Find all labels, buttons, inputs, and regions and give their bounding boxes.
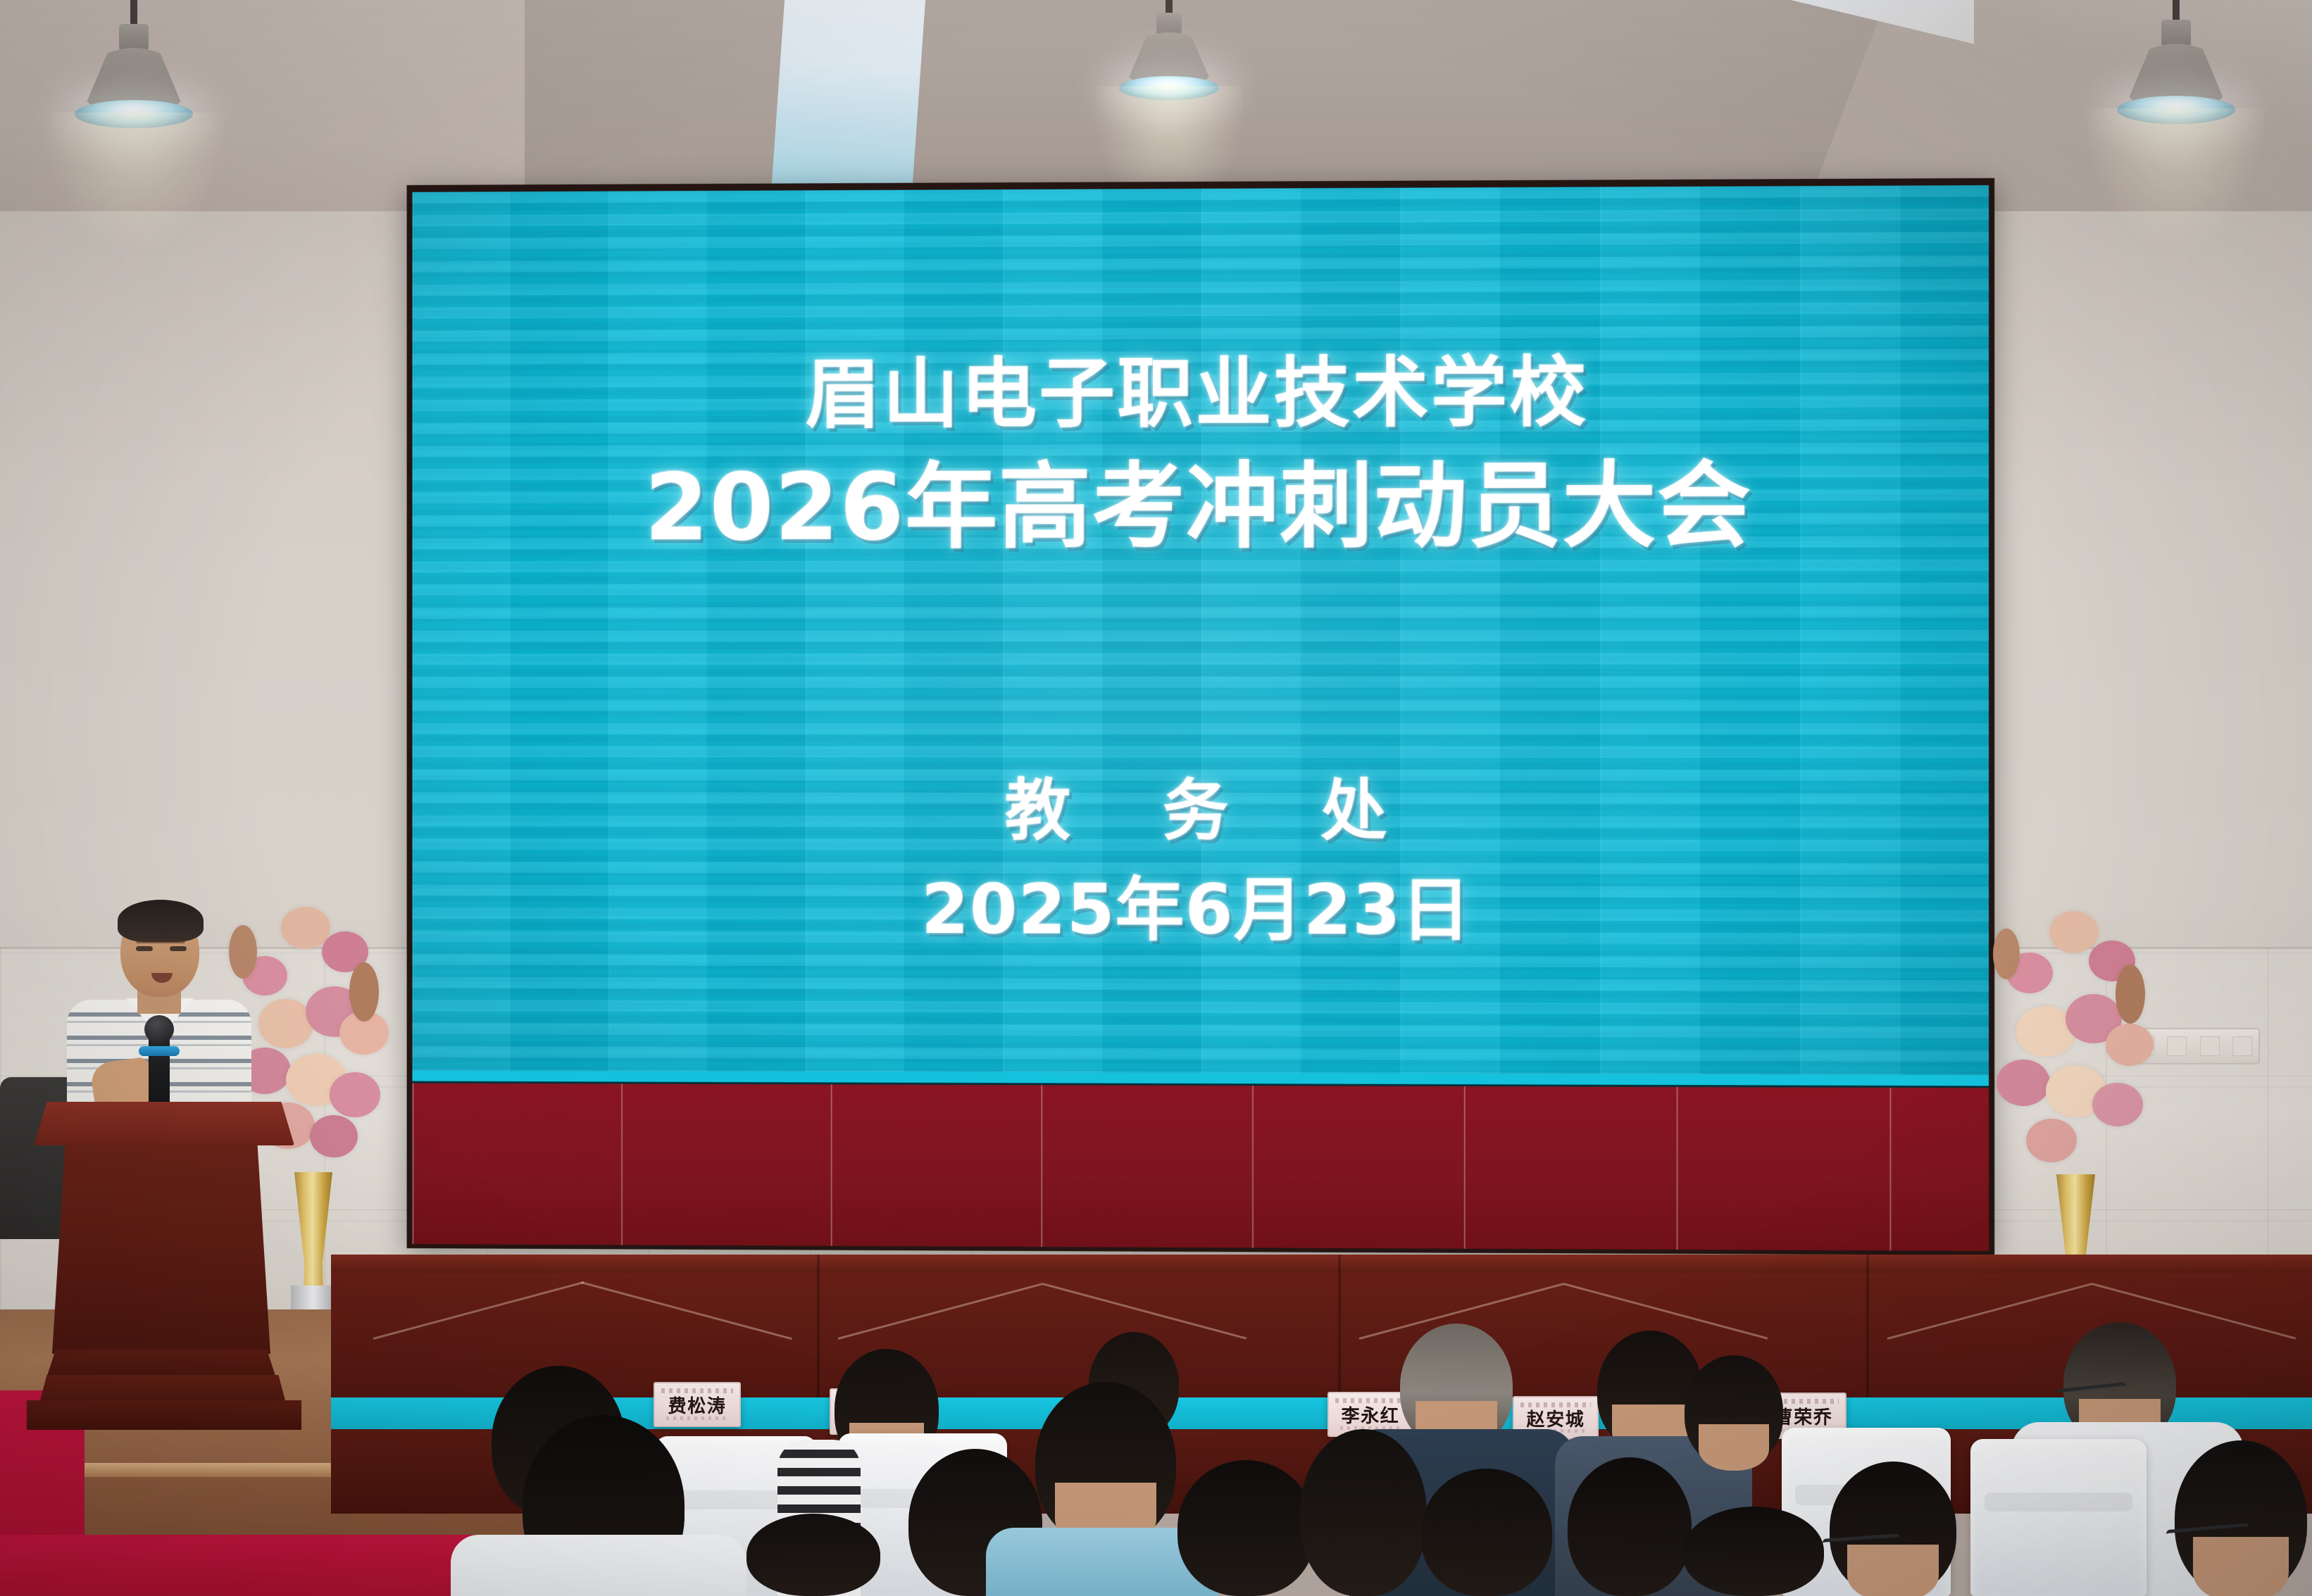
pendant-lamp-center [1106, 0, 1232, 120]
led-display-frame: 眉山电子职业技术学校 2026年高考冲刺动员大会 教 务 处 2025年6月23… [407, 178, 1995, 1255]
nameplate-footer-line [666, 1416, 728, 1420]
audience-head [1683, 1507, 1824, 1596]
microphone-head [144, 1015, 174, 1043]
nameplate-name: 李永红 [1342, 1402, 1400, 1428]
lamp-cord [130, 0, 137, 27]
flower-petal [281, 907, 330, 949]
audience-face [2193, 1537, 2288, 1596]
flower-petal [2092, 1083, 2143, 1126]
podium-foot [27, 1400, 301, 1430]
lamp-neck [1156, 13, 1182, 35]
flower-petal [2106, 1024, 2154, 1066]
audience-head [1685, 1355, 1783, 1466]
led-bottom-red-band [412, 1081, 1989, 1251]
speaker-hair [118, 900, 204, 942]
led-display: 眉山电子职业技术学校 2026年高考冲刺动员大会 教 务 处 2025年6月23… [412, 185, 1989, 1251]
wood-zigzag [1042, 1283, 1247, 1340]
speaker-person [53, 894, 264, 1133]
pendant-lamp-right [2113, 0, 2239, 134]
nameplate-name: 赵安城 [1527, 1405, 1585, 1431]
flower-leaf [2116, 964, 2145, 1024]
audience-head [1177, 1460, 1315, 1596]
ceiling-beam [771, 0, 927, 197]
flower-petal [2026, 1119, 2077, 1162]
switch-key[interactable] [2167, 1036, 2187, 1056]
wood-zigzag [838, 1283, 1043, 1340]
audience-shoulders [451, 1535, 746, 1596]
wood-wall-rail [331, 1255, 2312, 1273]
vase-band [291, 1286, 336, 1310]
nameplate: 费松涛 [654, 1382, 741, 1427]
podium-base-lower [39, 1375, 286, 1403]
flower-leaf [349, 962, 379, 1022]
wood-zigzag [1563, 1283, 1768, 1340]
pendant-lamp-left [70, 0, 197, 141]
nameplate-name: 曹荣乔 [1775, 1403, 1833, 1429]
audience-head [1830, 1462, 1956, 1596]
audience-head [1035, 1382, 1176, 1544]
podium-base-upper [46, 1350, 276, 1378]
speaker-brow [136, 939, 185, 943]
audience-face [1699, 1424, 1770, 1471]
podium-body [52, 1143, 270, 1354]
flower-petal [310, 1115, 358, 1157]
audience-head [746, 1514, 880, 1596]
microphone-ring [139, 1046, 180, 1056]
flower-petal [2049, 911, 2099, 953]
podium [42, 1102, 285, 1496]
speaker-eye-left [136, 946, 153, 951]
flower-cluster [1993, 887, 2158, 1184]
podium-top [34, 1102, 294, 1145]
switch-key[interactable] [2200, 1036, 2220, 1056]
lamp-glow [46, 113, 222, 246]
nameplate-name: 费松涛 [668, 1392, 727, 1418]
flower-leaf [1993, 929, 2020, 979]
auditorium-photo: 眉山电子职业技术学校 2026年高考冲刺动员大会 教 务 处 2025年6月23… [0, 0, 2312, 1596]
audience-head [1568, 1457, 1692, 1596]
lamp-neck [2161, 20, 2191, 46]
audience-face [1847, 1545, 1939, 1596]
flower-petal [330, 1072, 380, 1117]
chair-cover [1970, 1439, 2147, 1596]
audience-head [2175, 1440, 2307, 1596]
lamp-glow [2088, 108, 2264, 242]
switch-key[interactable] [2232, 1036, 2252, 1056]
wood-zigzag [373, 1281, 585, 1340]
audience-head [1300, 1429, 1427, 1596]
speaker-eye-right [170, 946, 187, 951]
wood-zigzag [581, 1281, 792, 1340]
flower-petal [1997, 1060, 2050, 1106]
wood-zigzag [1887, 1283, 2092, 1340]
lamp-neck [119, 24, 149, 51]
audience-head [1421, 1469, 1552, 1596]
flower-petal [258, 999, 313, 1048]
